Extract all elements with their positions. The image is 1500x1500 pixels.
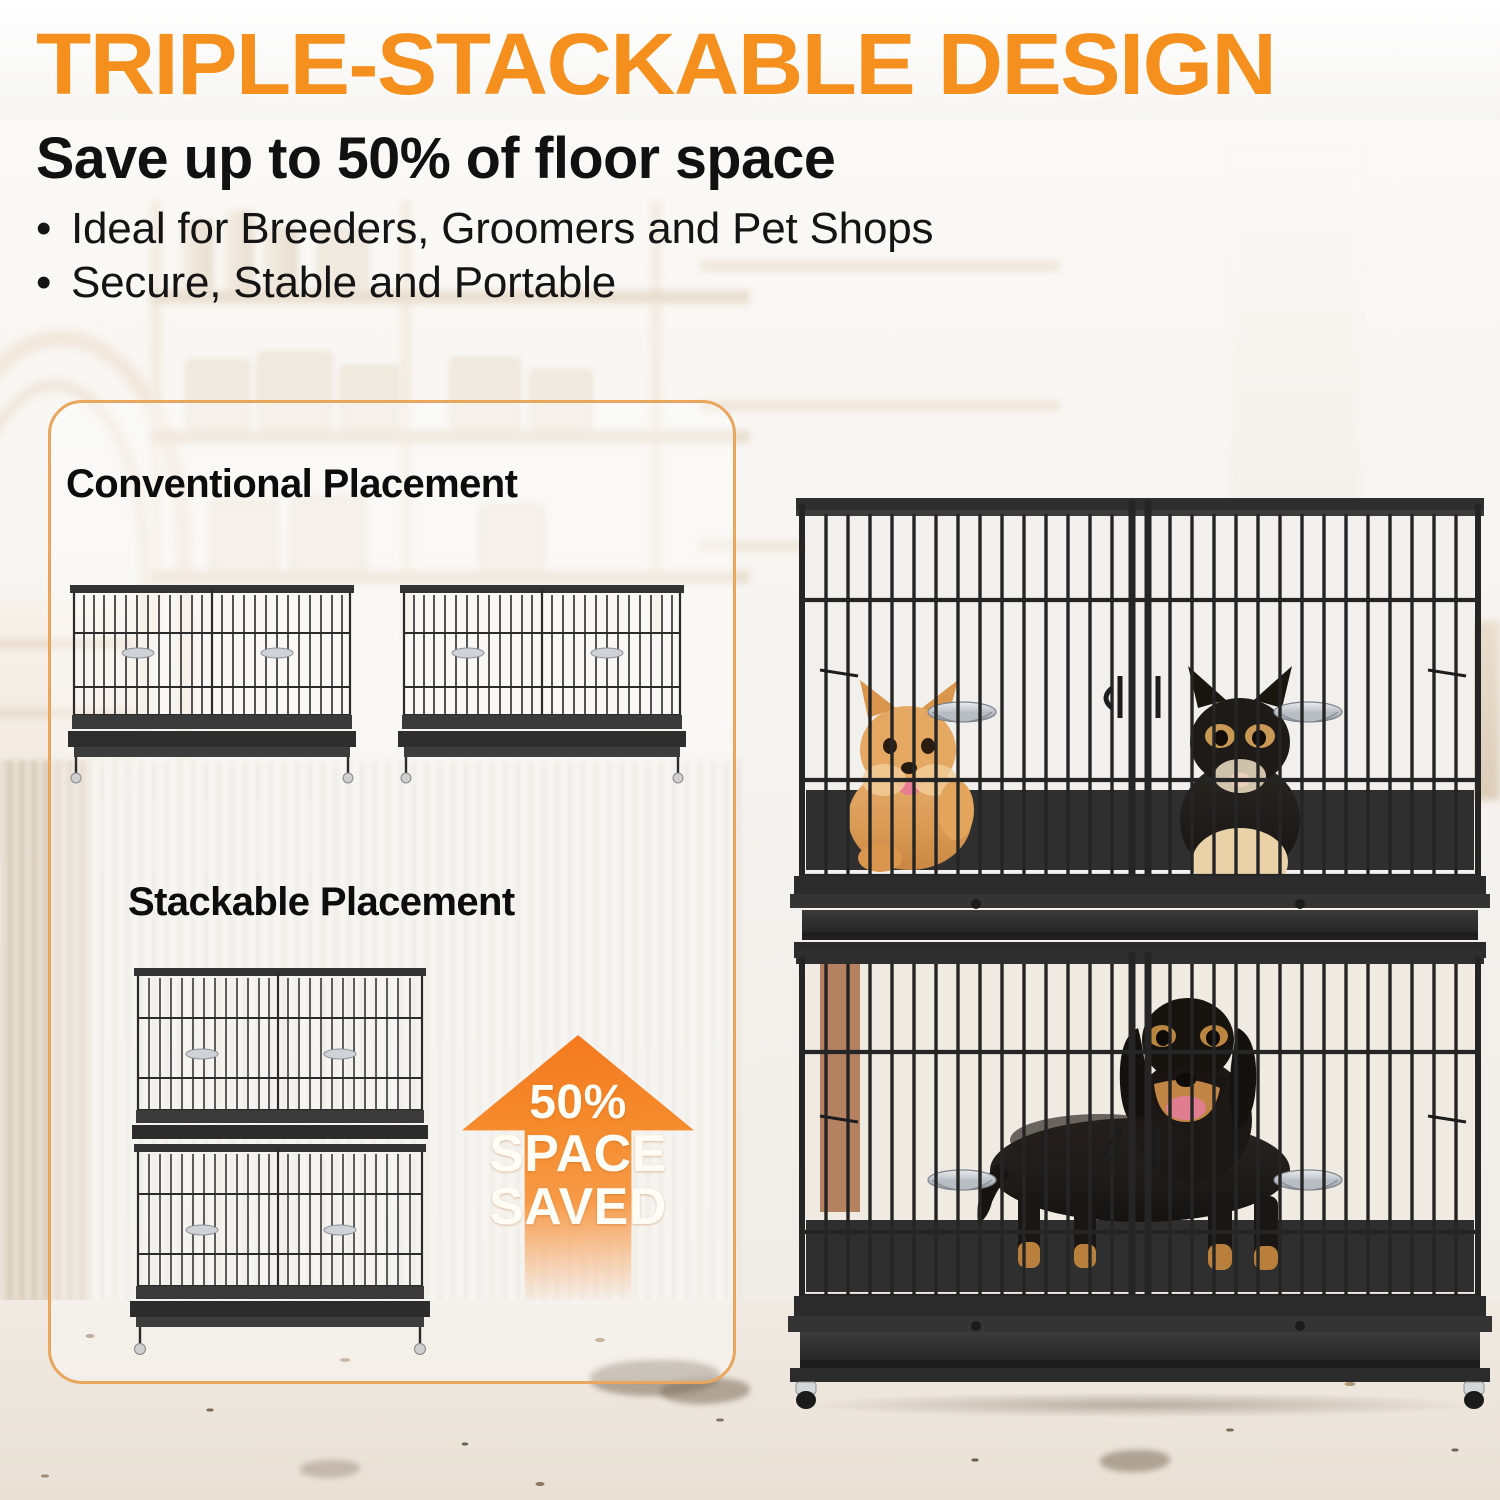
bullet-marker: • <box>36 258 51 307</box>
page-subtitle: Save up to 50% of floor space <box>36 125 1472 192</box>
product-infographic: TRIPLE-STACKABLE DESIGN Save up to 50% o… <box>0 0 1500 1500</box>
feeding-bowl-upper-left <box>928 702 996 722</box>
caster-wheel <box>796 1382 816 1409</box>
bullet-text: Secure, Stable and Portable <box>71 258 616 307</box>
list-item: •Secure, Stable and Portable <box>36 256 1486 310</box>
conventional-cage-left <box>62 575 362 790</box>
badge-percent: 50% <box>462 1079 694 1128</box>
product-photo-stacked-crate <box>780 480 1500 1410</box>
conventional-cage-right <box>392 575 692 790</box>
caster-wheel <box>1464 1382 1484 1409</box>
stackable-placement-label: Stackable Placement <box>128 880 515 925</box>
badge-word-saved: SAVED <box>462 1181 694 1234</box>
bullet-marker: • <box>36 204 51 253</box>
space-saved-badge: 50% SPACE SAVED <box>462 1035 694 1300</box>
dog-black-tan-pomeranian <box>1180 666 1300 904</box>
feature-bullet-list: •Ideal for Breeders, Groomers and Pet Sh… <box>36 202 1486 310</box>
feeding-bowl-upper-right <box>1274 702 1342 722</box>
feeding-bowl-lower-left <box>928 1170 996 1190</box>
headline-block: TRIPLE-STACKABLE DESIGN Save up to 50% o… <box>36 22 1486 310</box>
list-item: •Ideal for Breeders, Groomers and Pet Sh… <box>36 202 1486 256</box>
conventional-placement-label: Conventional Placement <box>66 462 517 507</box>
badge-word-space: SPACE <box>462 1128 694 1181</box>
page-title: TRIPLE-STACKABLE DESIGN <box>36 22 1500 107</box>
stackable-cage-illustration <box>120 960 440 1360</box>
space-saved-text: 50% SPACE SAVED <box>462 1079 694 1234</box>
bullet-text: Ideal for Breeders, Groomers and Pet Sho… <box>71 204 933 253</box>
feeding-bowl-lower-right <box>1274 1170 1342 1190</box>
